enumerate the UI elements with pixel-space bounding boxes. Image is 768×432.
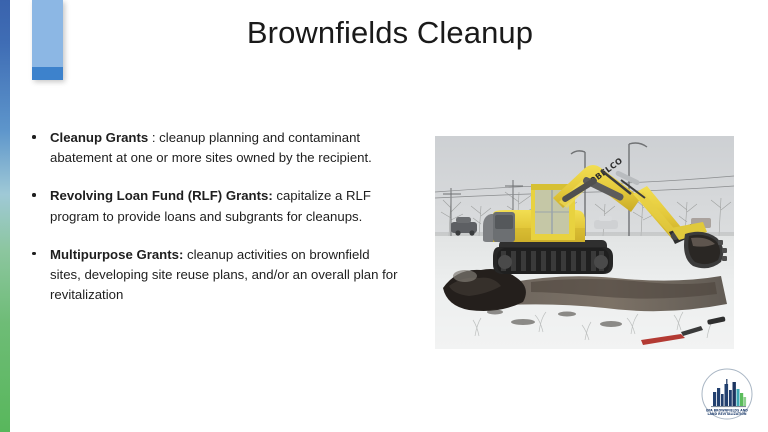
- bullet-lead-cleanup-grants: Cleanup Grants: [50, 130, 152, 145]
- epa-brownfields-logo: EPA BROWNFIELDS AND LAND REVITALIZATION: [701, 368, 753, 420]
- bullet-lead-multipurpose-grants: Multipurpose Grants:: [50, 247, 183, 262]
- logo-text-line2: LAND REVITALIZATION: [708, 412, 747, 416]
- excavator-site-photo: KOBELCO: [435, 136, 734, 349]
- bullet-item-cleanup-grants: Cleanup Grants : cleanup planning and co…: [24, 128, 398, 168]
- slide-brownfields-cleanup: Brownfields Cleanup Cleanup Grants : cle…: [0, 0, 768, 432]
- bullet-list: Cleanup Grants : cleanup planning and co…: [24, 128, 398, 305]
- accent-block-upper: [32, 0, 63, 67]
- bullet-dot-icon: [32, 193, 36, 197]
- title-accent-block: [32, 0, 63, 80]
- bullet-dot-icon: [32, 135, 36, 139]
- left-edge-gradient-bar: [0, 0, 10, 432]
- slide-title: Brownfields Cleanup: [90, 14, 690, 51]
- bullet-dot-icon: [32, 252, 36, 256]
- bullet-lead-rlf-grants: Revolving Loan Fund (RLF) Grants:: [50, 188, 273, 203]
- bullet-item-multipurpose-grants: Multipurpose Grants: cleanup activities …: [24, 245, 398, 306]
- bullet-item-rlf-grants: Revolving Loan Fund (RLF) Grants: capita…: [24, 186, 398, 226]
- accent-block-lower: [32, 67, 63, 80]
